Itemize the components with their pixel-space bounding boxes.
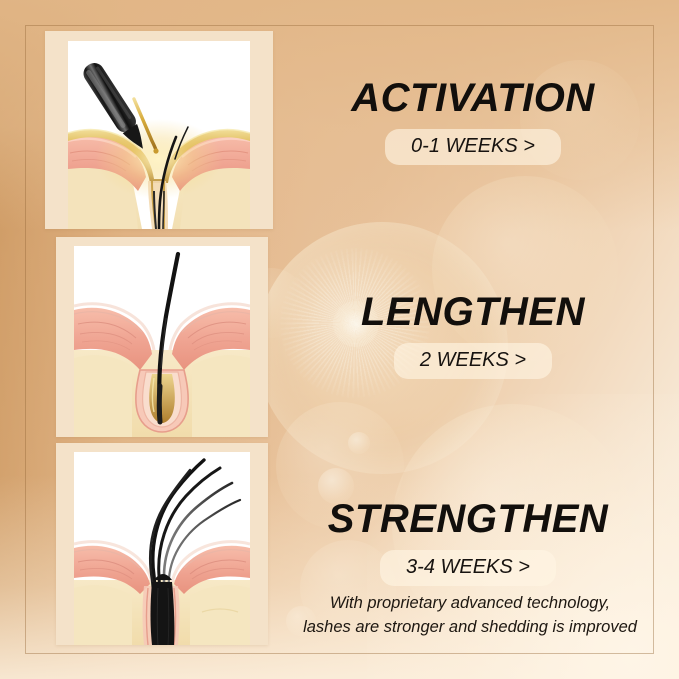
- stage-title-strengthen: STRENGTHEN: [283, 499, 653, 539]
- stage-title-lengthen: LENGTHEN: [293, 292, 653, 332]
- illustration-panel-strengthen: [56, 443, 268, 645]
- tagline: With proprietary advanced technology, la…: [276, 592, 664, 640]
- stage-block-activation: ACTIVATION 0-1 WEEKS >: [293, 78, 653, 165]
- illustration-plate: [68, 41, 250, 229]
- tagline-line-2: lashes are stronger and shedding is impr…: [276, 616, 664, 640]
- stage-badge-strengthen[interactable]: 3-4 WEEKS >: [380, 550, 556, 586]
- stage-badge-activation[interactable]: 0-1 WEEKS >: [385, 129, 561, 165]
- stage-title-activation: ACTIVATION: [293, 78, 653, 118]
- stage-block-strengthen: STRENGTHEN 3-4 WEEKS >: [283, 499, 653, 586]
- single-lash-growing-from-follicle-icon: [74, 246, 250, 437]
- multiple-lashes-fanning-from-follicle-icon: [74, 452, 250, 645]
- illustration-panel-activation: [45, 31, 273, 229]
- stage-badge-lengthen[interactable]: 2 WEEKS >: [394, 343, 552, 379]
- tagline-line-1: With proprietary advanced technology,: [276, 592, 664, 616]
- illustration-plate: [74, 246, 250, 437]
- serum-applicator-on-follicle-icon: [68, 41, 250, 229]
- stage-block-lengthen: LENGTHEN 2 WEEKS >: [293, 292, 653, 379]
- illustration-plate: [74, 452, 250, 645]
- infographic-canvas: ACTIVATION 0-1 WEEKS > LENGTHEN 2 WEEKS …: [0, 0, 679, 679]
- illustration-panel-lengthen: [56, 237, 268, 437]
